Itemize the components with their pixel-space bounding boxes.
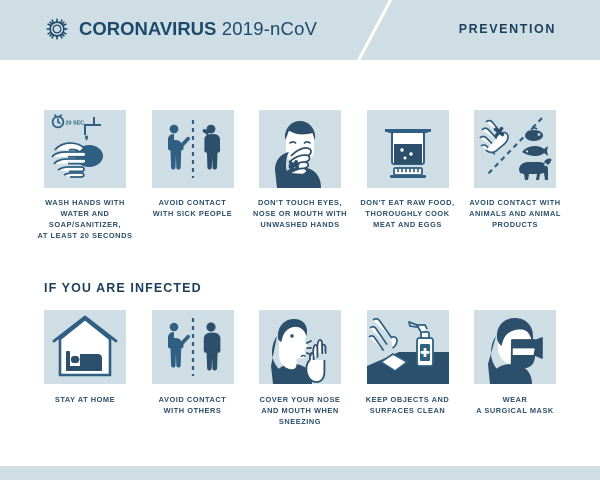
brand: CORONAVIRUS 2019-nCoV	[44, 16, 317, 42]
header-diagonal-divider	[343, 0, 402, 60]
list-item[interactable]: AVOID CONTACT WITH OTHERS	[152, 310, 234, 427]
list-item[interactable]: AVOID CONTACT WITH SICK PEOPLE	[152, 110, 234, 241]
list-item[interactable]: COVER YOUR NOSE AND MOUTH WHEN SNEEZING	[259, 310, 341, 427]
cooking-pot-icon	[367, 110, 449, 188]
list-item-caption: KEEP OBJECTS AND SURFACES CLEAN	[348, 394, 468, 416]
header-section-label: PREVENTION	[459, 22, 556, 36]
list-item-caption: AVOID CONTACT WITH SICK PEOPLE	[133, 197, 253, 219]
list-item-caption: STAY AT HOME	[25, 394, 145, 405]
list-item[interactable]: WEAR A SURGICAL MASK	[474, 310, 556, 427]
list-item-caption: AVOID CONTACT WITH ANIMALS AND ANIMAL PR…	[455, 197, 575, 230]
prevention-row: 20 SEC WASH HANDS WITH WATER AND SOAP/SA…	[44, 110, 556, 241]
list-item-caption: AVOID CONTACT WITH OTHERS	[133, 394, 253, 416]
avoid-animals-icon	[474, 110, 556, 188]
house-with-bed-icon	[44, 310, 126, 384]
clean-surfaces-icon	[367, 310, 449, 384]
infected-row: STAY AT HOME AVOID CONTACT WITH OTHERS	[44, 310, 556, 427]
list-item[interactable]: 20 SEC WASH HANDS WITH WATER AND SOAP/SA…	[44, 110, 126, 241]
list-item[interactable]: DON'T EAT RAW FOOD, THOROUGHLY COOK MEAT…	[367, 110, 449, 241]
coronavirus-virus-icon	[44, 16, 70, 42]
list-item[interactable]: AVOID CONTACT WITH ANIMALS AND ANIMAL PR…	[474, 110, 556, 241]
page-header: CORONAVIRUS 2019-nCoV PREVENTION	[0, 0, 600, 60]
surgical-mask-icon	[474, 310, 556, 384]
cover-sneeze-icon	[259, 310, 341, 384]
list-item-caption: COVER YOUR NOSE AND MOUTH WHEN SNEEZING	[240, 394, 360, 427]
section-heading-infected: IF YOU ARE INFECTED	[44, 281, 202, 295]
avoid-sick-people-icon	[152, 110, 234, 188]
footer-bar	[0, 466, 600, 480]
brand-variant: 2019-nCoV	[222, 18, 317, 39]
list-item[interactable]: KEEP OBJECTS AND SURFACES CLEAN	[367, 310, 449, 427]
brand-name: CORONAVIRUS	[79, 18, 216, 39]
list-item-caption: WEAR A SURGICAL MASK	[455, 394, 575, 416]
washing-hands-icon: 20 SEC	[44, 110, 126, 188]
page-title: CORONAVIRUS 2019-nCoV	[79, 16, 317, 42]
list-item[interactable]: STAY AT HOME	[44, 310, 126, 427]
list-item[interactable]: DON'T TOUCH EYES, NOSE OR MOUTH WITH UNW…	[259, 110, 341, 241]
list-item-caption: DON'T EAT RAW FOOD, THOROUGHLY COOK MEAT…	[348, 197, 468, 230]
list-item-caption: WASH HANDS WITH WATER AND SOAP/SANITIZER…	[25, 197, 145, 241]
dont-touch-face-icon	[259, 110, 341, 188]
avoid-contact-others-icon	[152, 310, 234, 384]
svg-text:20 SEC: 20 SEC	[66, 121, 85, 127]
list-item-caption: DON'T TOUCH EYES, NOSE OR MOUTH WITH UNW…	[240, 197, 360, 230]
